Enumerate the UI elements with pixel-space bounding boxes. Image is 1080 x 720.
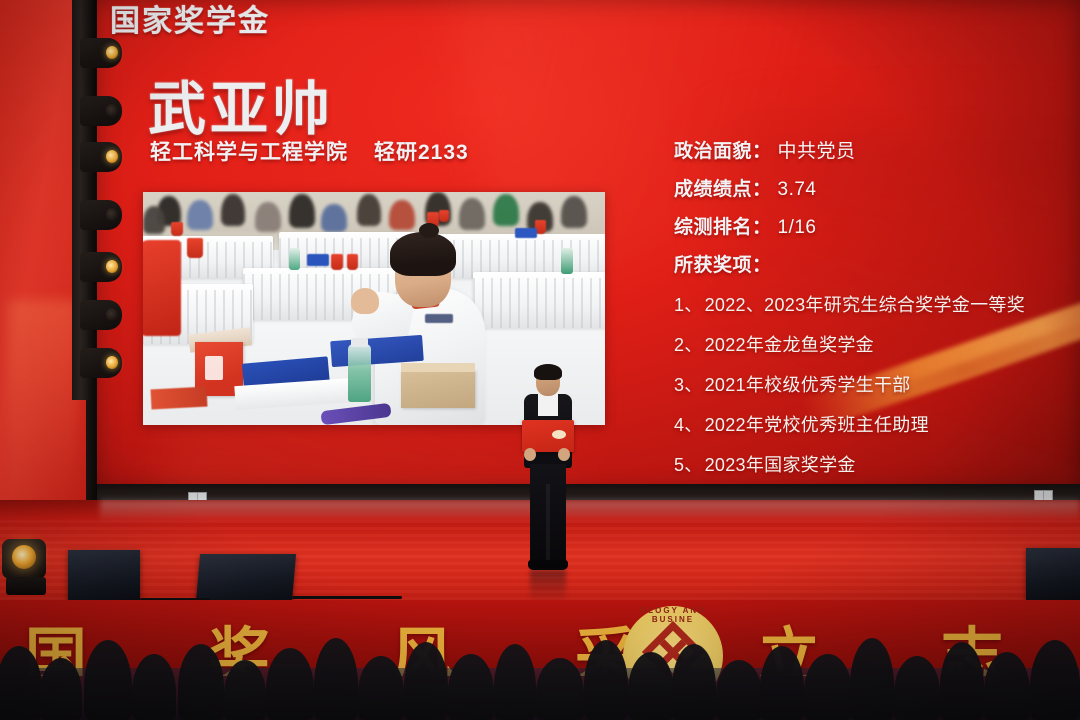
award-item: 4、2022年党校优秀班主任助理 (674, 411, 1074, 437)
audience-head (672, 644, 716, 720)
award-item: 5、2023年国家奖学金 (674, 451, 1074, 477)
award-item: 3、2021年校级优秀学生干部 (674, 371, 1074, 397)
audience-head (224, 660, 266, 720)
audience-head (404, 642, 448, 720)
audience-head (716, 660, 762, 720)
photo-subject-hair-bun (419, 223, 439, 238)
awards-list: 1、2022、2023年研究生综合奖学金一等奖 2、2022年金龙鱼奖学金 3、… (674, 291, 1074, 477)
stage-light-icon (80, 142, 122, 172)
audience-head (940, 642, 984, 720)
photo-subject-hand (351, 288, 379, 314)
award-text: 2022年党校优秀班主任助理 (705, 415, 929, 435)
presenter-legs (530, 464, 566, 564)
audience-head (178, 644, 224, 720)
award-text: 2023年国家奖学金 (705, 455, 856, 475)
audience-head (804, 654, 852, 720)
photo-blue-item (307, 254, 329, 266)
award-number: 3、 (674, 375, 703, 395)
stage-photo-scene: 国家奖学金 武亚帅 轻工科学与工程学院轻研2133 (0, 0, 1080, 720)
info-label: 政治面貌： (674, 141, 772, 162)
stage-floor-shine (100, 500, 1080, 520)
stage-light-icon (80, 252, 122, 282)
photo-subject-coat-logo (425, 314, 453, 323)
info-value: 3.74 (778, 179, 817, 200)
audience-head (584, 640, 628, 720)
photo-cup (347, 254, 358, 270)
slide-kicker-title: 国家奖学金 (110, 0, 270, 40)
photo-cup (331, 254, 343, 270)
audience-head (628, 652, 674, 720)
photo-cup (187, 238, 203, 258)
presenter-shoes (528, 560, 568, 570)
award-text: 2021年校级优秀学生干部 (705, 375, 911, 395)
info-row-political-status: 政治面貌：中共党员 (674, 136, 1074, 163)
photo-bg-person (187, 200, 213, 230)
slide-student-name: 武亚帅 (148, 62, 334, 146)
photo-red-paper (151, 387, 208, 410)
slide-college: 轻工科学与工程学院 (150, 141, 348, 164)
audience-head (40, 658, 82, 720)
awards-heading: 所获奖项： (674, 250, 1074, 277)
audience-head (266, 648, 314, 720)
photo-blue-item (515, 228, 537, 238)
stage-light-icon (80, 96, 122, 126)
photo-bg-person (357, 194, 381, 226)
photo-water-bottle (348, 344, 371, 402)
photo-bg-person (143, 206, 165, 234)
audience-head (358, 656, 404, 720)
presenter-right-hand (558, 448, 570, 461)
photo-green-bottle (289, 248, 300, 270)
photo-bg-person (493, 194, 519, 226)
audience-head (0, 646, 42, 720)
photo-bg-person (255, 202, 281, 232)
stage-monitor-speaker (196, 554, 296, 602)
info-row-gpa: 成绩绩点：3.74 (674, 174, 1074, 201)
photo-table (473, 272, 605, 328)
audience-head (132, 654, 176, 720)
award-number: 4、 (674, 415, 703, 435)
award-item: 2、2022年金龙鱼奖学金 (674, 331, 1074, 357)
photo-bottle-cap (351, 338, 368, 347)
audience-head (448, 654, 494, 720)
photo-bg-person (289, 194, 315, 228)
info-value: 中共党员 (778, 141, 856, 162)
photo-cardboard-box (401, 370, 475, 408)
audience-head (760, 646, 804, 720)
photo-bg-person (389, 200, 415, 230)
photo-cup (439, 210, 449, 222)
stage-presenter (516, 368, 578, 578)
slide-college-and-class: 轻工科学与工程学院轻研2133 (150, 136, 469, 166)
audience-head (1030, 640, 1080, 720)
stage-monitor-speaker (68, 550, 140, 602)
photo-bg-person (459, 198, 485, 230)
photo-bg-person (321, 204, 347, 232)
photo-bg-person (561, 196, 587, 228)
audience-head (314, 638, 358, 720)
slide-info-panel: 政治面貌：中共党员 成绩绩点：3.74 综测排名：1/16 所获奖项： 1、20… (674, 136, 1074, 491)
audience-head (84, 640, 132, 720)
presenter-floor-reflection (530, 570, 566, 604)
audience-silhouettes (0, 612, 1080, 720)
award-text: 2022年金龙鱼奖学金 (705, 335, 874, 355)
audience-head (850, 638, 894, 720)
info-value: 1/16 (778, 217, 817, 238)
stage-light-icon (80, 348, 122, 378)
stage-light-icon (80, 38, 122, 68)
audience-head (494, 644, 536, 720)
presenter-left-hand (524, 448, 536, 461)
presenter-hair (534, 364, 562, 380)
audience-head (894, 656, 940, 720)
stage-light-icon (80, 200, 122, 230)
info-label: 成绩绩点： (674, 179, 772, 200)
photo-bg-person (221, 194, 245, 226)
slide-class: 轻研2133 (374, 141, 469, 164)
info-label: 综测排名： (674, 217, 772, 238)
audience-head (984, 652, 1030, 720)
audience-head (536, 658, 584, 720)
photo-green-bottle (561, 248, 573, 274)
info-row-ranking: 综测排名：1/16 (674, 212, 1074, 239)
award-item: 1、2022、2023年研究生综合奖学金一等奖 (674, 291, 1074, 317)
award-number: 2、 (674, 335, 703, 355)
stage-monitor-speaker (1026, 548, 1080, 600)
award-number: 5、 (674, 455, 703, 475)
stage-light-icon (80, 300, 122, 330)
photo-cup (171, 222, 183, 236)
photo-subject-hair (390, 232, 456, 276)
award-number: 1、 (674, 295, 703, 315)
moving-head-light-icon (2, 525, 54, 595)
stage-cable (292, 596, 402, 599)
photo-red-foreground (143, 240, 181, 336)
award-text: 2022、2023年研究生综合奖学金一等奖 (705, 295, 1025, 315)
presenter-shirt (538, 394, 558, 416)
